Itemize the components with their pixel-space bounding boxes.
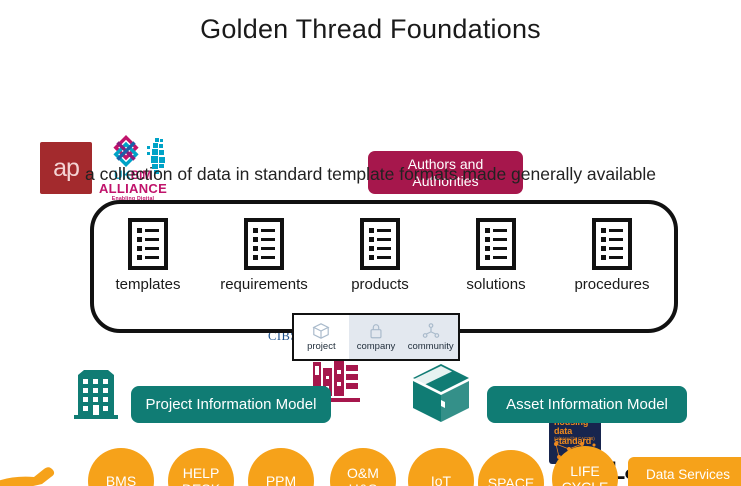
doc-label: solutions: [466, 276, 525, 293]
data-services-badge[interactable]: Data Services: [628, 457, 741, 486]
doc-label: templates: [115, 276, 180, 293]
slide-canvas: Golden Thread Foundations ap: [0, 0, 741, 486]
service-circle-iot[interactable]: IoT: [408, 448, 474, 486]
page-title: Golden Thread Foundations: [0, 14, 741, 45]
doc-label: products: [351, 276, 409, 293]
list-document-icon: [244, 218, 284, 270]
service-circle-space[interactable]: SPACE: [478, 450, 544, 486]
service-circle-bms[interactable]: BMS: [88, 448, 154, 486]
doc-item-products[interactable]: products: [326, 218, 434, 293]
list-document-icon: [476, 218, 516, 270]
document-types-row: templates requirements products: [90, 200, 670, 325]
open-hand-icon: [0, 455, 86, 486]
service-line2: DESK: [182, 481, 220, 486]
service-circle-om-hs[interactable]: O&M H&S: [330, 448, 396, 486]
scope-cell-community[interactable]: community: [403, 315, 458, 359]
doc-item-procedures[interactable]: procedures: [558, 218, 666, 293]
doc-item-solutions[interactable]: solutions: [442, 218, 550, 293]
service-line1: IoT: [431, 473, 451, 486]
lock-icon: [367, 322, 385, 340]
scope-cell-project[interactable]: project: [294, 315, 349, 359]
service-line1: LIFE: [570, 463, 600, 479]
pim-label: Project Information Model: [146, 396, 317, 413]
list-document-icon: [360, 218, 400, 270]
service-circle-ppm[interactable]: PPM: [248, 448, 314, 486]
scope-label: company: [357, 341, 396, 352]
box-icon: [312, 322, 330, 340]
scope-cell-company[interactable]: company: [349, 315, 404, 359]
data-services-label: Data Services: [646, 467, 730, 482]
doc-item-requirements[interactable]: requirements: [210, 218, 318, 293]
list-document-icon: [592, 218, 632, 270]
service-line2: H&S: [349, 481, 378, 486]
service-circle-help-desk[interactable]: HELP DESK: [168, 448, 234, 486]
scope-label: project: [307, 341, 336, 352]
scope-label: community: [408, 341, 454, 352]
project-information-model-badge[interactable]: Project Information Model: [131, 386, 331, 423]
aim-label: Asset Information Model: [506, 396, 668, 413]
service-line1: SPACE: [488, 475, 534, 486]
subtitle: a collection of data in standard templat…: [0, 164, 741, 185]
service-line1: O&M: [347, 465, 379, 481]
list-document-icon: [128, 218, 168, 270]
community-network-icon: [422, 322, 440, 340]
doc-label: requirements: [220, 276, 308, 293]
open-box-3d-icon: [410, 363, 472, 423]
scope-selector: project company community: [292, 313, 460, 361]
ukbim-knot-icon: [108, 134, 144, 168]
service-line2: CYCLE: [562, 479, 609, 486]
building-icon: [72, 367, 120, 419]
asset-information-model-badge[interactable]: Asset Information Model: [487, 386, 687, 423]
service-line1: BMS: [106, 473, 136, 486]
service-line1: PPM: [266, 473, 296, 486]
logo-strip: ap: [0, 62, 741, 157]
service-line1: HELP: [183, 465, 220, 481]
doc-item-templates[interactable]: templates: [94, 218, 202, 293]
doc-label: procedures: [574, 276, 649, 293]
